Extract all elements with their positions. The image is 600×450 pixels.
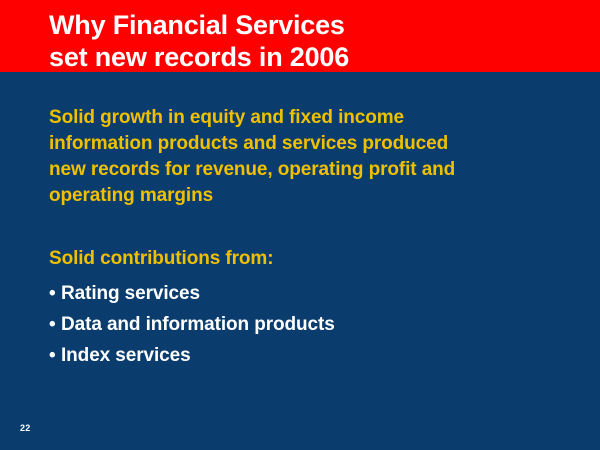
slide-title: Why Financial Services set new records i… xyxy=(49,9,589,73)
list-item: •Data and information products xyxy=(49,309,579,340)
bullet-point-icon: • xyxy=(49,340,61,371)
list-item-label: Index services xyxy=(61,345,191,366)
bullet-point-icon: • xyxy=(49,309,61,340)
list-item: •Rating services xyxy=(49,278,579,309)
bullet-point-icon: • xyxy=(49,278,61,309)
list-item: •Index services xyxy=(49,340,579,371)
list-item-label: Data and information products xyxy=(61,314,335,335)
slide-body: Solid growth in equity and fixed income … xyxy=(49,105,579,371)
list-item-label: Rating services xyxy=(61,283,200,304)
presentation-slide: Why Financial Services set new records i… xyxy=(0,0,600,450)
contributions-bullet-list: •Rating services •Data and information p… xyxy=(49,272,579,371)
lead-paragraph: Solid growth in equity and fixed income … xyxy=(49,105,579,209)
contributions-heading: Solid contributions from: xyxy=(49,209,579,272)
page-number: 22 xyxy=(20,423,31,434)
